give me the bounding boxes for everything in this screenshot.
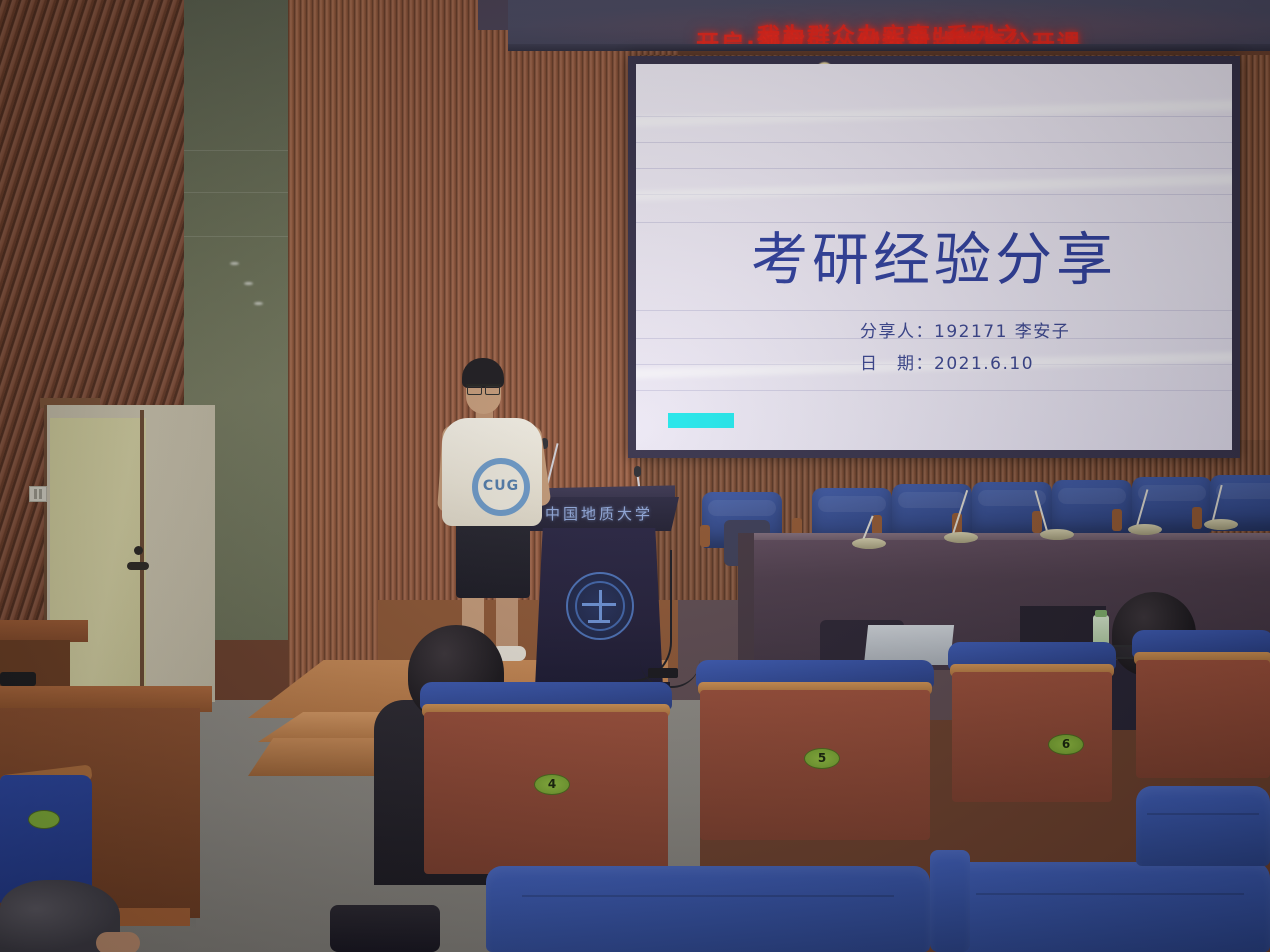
led-banner: 我为群众办实事"系列之 开启·领航——创新实践教育公开课 — [508, 0, 1270, 48]
light-switch[interactable] — [29, 486, 47, 502]
slide-accent-block — [668, 413, 734, 428]
projection-screen-surface: 考研经验分享 分享人：192171 李安子 日 期：2021.6.10 — [636, 64, 1232, 450]
laptop[interactable] — [864, 625, 954, 665]
projection-screen-frame: 考研经验分享 分享人：192171 李安子 日 期：2021.6.10 — [628, 56, 1240, 458]
speaker-tshirt: CUG — [442, 418, 542, 526]
auditorium-seat[interactable]: 4 — [424, 712, 668, 874]
slide-date-line: 日 期：2021.6.10 — [860, 348, 1070, 380]
speaker-shorts — [456, 518, 530, 598]
banner-bottom-edge — [508, 44, 1270, 51]
slide-presenter-line: 分享人：192171 李安子 — [860, 316, 1070, 348]
door-handle[interactable] — [127, 562, 149, 570]
podium-microphone-head — [634, 466, 641, 477]
side-desk-top — [0, 620, 88, 642]
chair-armrest — [1112, 509, 1122, 531]
seat-badge: 6 — [1048, 734, 1084, 755]
ceiling-dark-strip — [478, 0, 512, 30]
cable-connector-box — [648, 668, 678, 678]
door-lock-icon[interactable] — [134, 546, 143, 555]
auditorium-seat[interactable]: 6 — [952, 672, 1112, 802]
seat-badge: 5 — [804, 748, 840, 769]
seat-badge: 4 — [534, 774, 570, 795]
chair-armrest — [700, 525, 710, 547]
auditorium-seat-divider — [930, 850, 970, 952]
auditorium-seat[interactable]: 5 — [700, 690, 930, 840]
audience-hand — [96, 932, 140, 952]
backpack-on-floor — [330, 905, 440, 952]
door-jamb — [140, 410, 144, 702]
university-emblem-icon — [566, 572, 634, 640]
microphone-base — [944, 532, 978, 543]
microphone-base — [852, 538, 886, 549]
chair-armrest — [1192, 507, 1202, 529]
lecture-hall-photo: 我为群众办实事"系列之 开启·领航——创新实践教育公开课 考研经验分享 分享人：… — [0, 0, 1270, 952]
conference-table-end — [738, 533, 754, 673]
wall-wood-center — [288, 0, 380, 700]
seat-badge — [28, 810, 60, 829]
microphone-base — [1204, 519, 1238, 530]
auditorium-seat[interactable] — [1136, 660, 1270, 778]
water-bottle-cap — [1095, 610, 1107, 617]
slide-metadata: 分享人：192171 李安子 日 期：2021.6.10 — [860, 316, 1070, 380]
auditorium-seat-cushion[interactable] — [486, 866, 930, 952]
slide-title: 考研经验分享 — [636, 214, 1232, 296]
auditorium-seat-cushion[interactable] — [1136, 786, 1270, 866]
cug-logo-text: CUG — [478, 478, 524, 494]
speaker-leg-right — [496, 594, 518, 652]
glasses-icon — [466, 384, 501, 393]
microphone-base — [1040, 529, 1074, 540]
auditorium-seat-cushion[interactable] — [950, 862, 1270, 952]
microphone-base — [1128, 524, 1162, 535]
cug-logo-icon: CUG — [472, 458, 530, 516]
desk-dark-object — [0, 672, 36, 686]
